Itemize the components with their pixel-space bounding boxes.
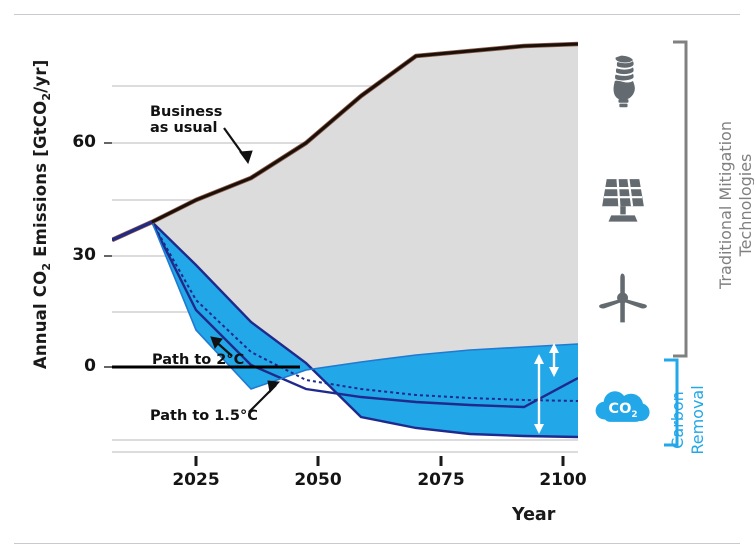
x-tick-2075: 2075 bbox=[406, 470, 476, 490]
x-tick-2025: 2025 bbox=[161, 470, 231, 490]
y-tick-60: 60 bbox=[50, 132, 96, 152]
figure-root: Annual CO2 Emissions [GtCO2/yr] 60 30 0 … bbox=[0, 0, 754, 557]
x-axis-label: Year bbox=[512, 505, 555, 525]
annotation-path-to-2c: Path to 2°C bbox=[152, 352, 244, 368]
y-tick-marks bbox=[104, 143, 112, 367]
historical-segment bbox=[112, 222, 152, 240]
bau-arrowhead bbox=[240, 151, 252, 163]
bracket-label-traditional: Traditional Mitigation Technologies bbox=[716, 45, 754, 365]
solar-panel-icon bbox=[594, 170, 652, 228]
x-tick-2100: 2100 bbox=[528, 470, 598, 490]
legend-panel: CO2 Traditional Mitigation Technologies … bbox=[586, 30, 754, 450]
removal-line1: Carbon bbox=[668, 391, 687, 449]
annotation-path-to-15c: Path to 1.5°C bbox=[150, 408, 258, 424]
annotation-bau-line1: Business bbox=[150, 104, 222, 120]
bracket-label-carbon-removal: Carbon Removal bbox=[668, 330, 708, 510]
x-tick-2050: 2050 bbox=[283, 470, 353, 490]
x-tick-marks bbox=[196, 456, 563, 466]
removal-line2: Removal bbox=[688, 385, 707, 454]
lightbulb-icon bbox=[594, 52, 652, 110]
annotation-business-as-usual: Business as usual bbox=[150, 104, 222, 137]
annotation-bau-line2: as usual bbox=[150, 120, 222, 136]
traditional-line1: Traditional Mitigation bbox=[716, 121, 735, 289]
traditional-line2: Technologies bbox=[736, 154, 754, 257]
co2-cloud-icon: CO2 bbox=[594, 380, 652, 438]
y-tick-0: 0 bbox=[50, 356, 96, 376]
bau-area bbox=[112, 44, 578, 389]
wind-turbine-icon bbox=[594, 268, 652, 326]
y-tick-30: 30 bbox=[50, 245, 96, 265]
path15c-arrowhead bbox=[268, 381, 279, 392]
